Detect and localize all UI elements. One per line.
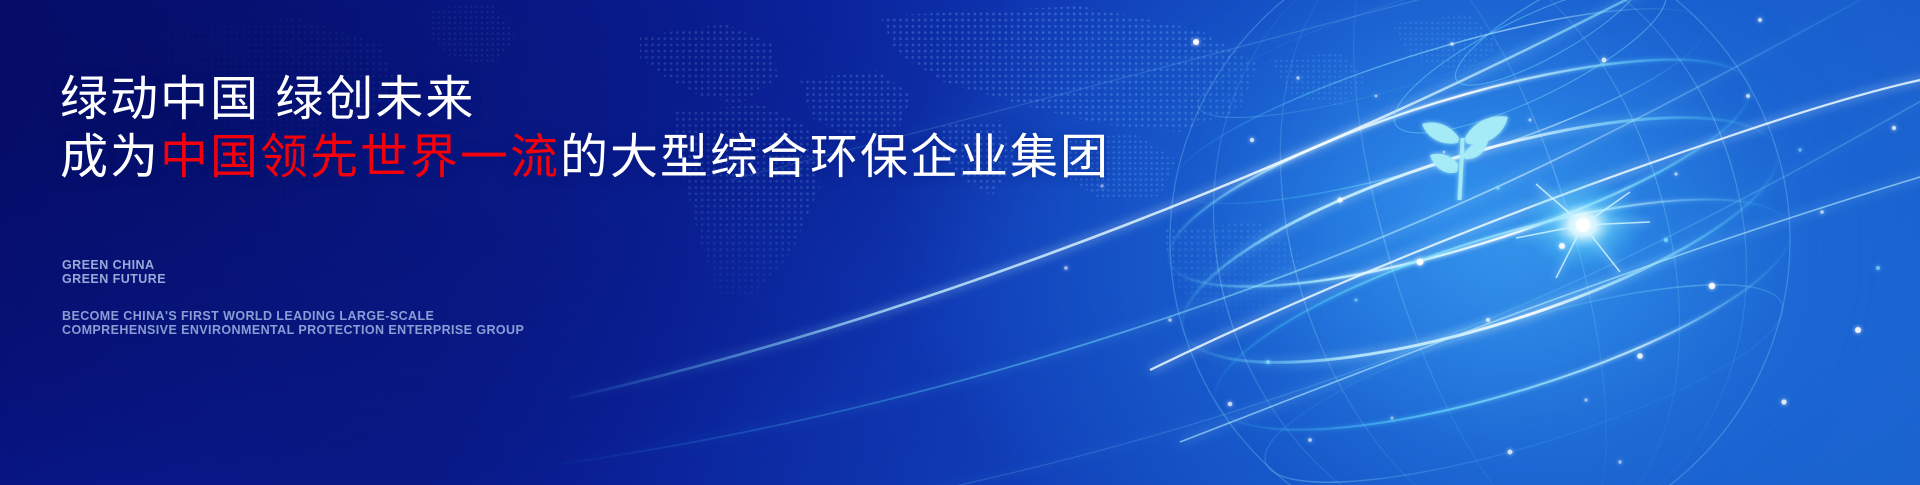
headline-text-block: 绿动中国 绿创未来 成为中国领先世界一流的大型综合环保企业集团 GREEN CH…: [60, 0, 1060, 485]
slogan-english: GREEN CHINA GREEN FUTURE: [62, 258, 166, 286]
slogan-line-2: GREEN FUTURE: [62, 272, 166, 286]
headline-line-2-prefix: 成为: [60, 131, 160, 184]
description-line-1: BECOME CHINA'S FIRST WORLD LEADING LARGE…: [62, 309, 524, 323]
headline-line-2-accent: 中国领先世界一流: [160, 131, 560, 184]
star-burst-glow: [1498, 150, 1668, 300]
headline-line-2: 成为中国领先世界一流的大型综合环保企业集团: [60, 134, 1110, 182]
slogan-line-1: GREEN CHINA: [62, 258, 166, 272]
headline-line-2-suffix: 的大型综合环保企业集团: [560, 131, 1110, 184]
description-line-2: COMPREHENSIVE ENVIRONMENTAL PROTECTION E…: [62, 323, 524, 337]
headline-line-1: 绿动中国 绿创未来: [60, 76, 475, 124]
description-english: BECOME CHINA'S FIRST WORLD LEADING LARGE…: [62, 309, 524, 337]
hero-banner: 绿动中国 绿创未来 成为中国领先世界一流的大型综合环保企业集团 GREEN CH…: [0, 0, 1920, 485]
